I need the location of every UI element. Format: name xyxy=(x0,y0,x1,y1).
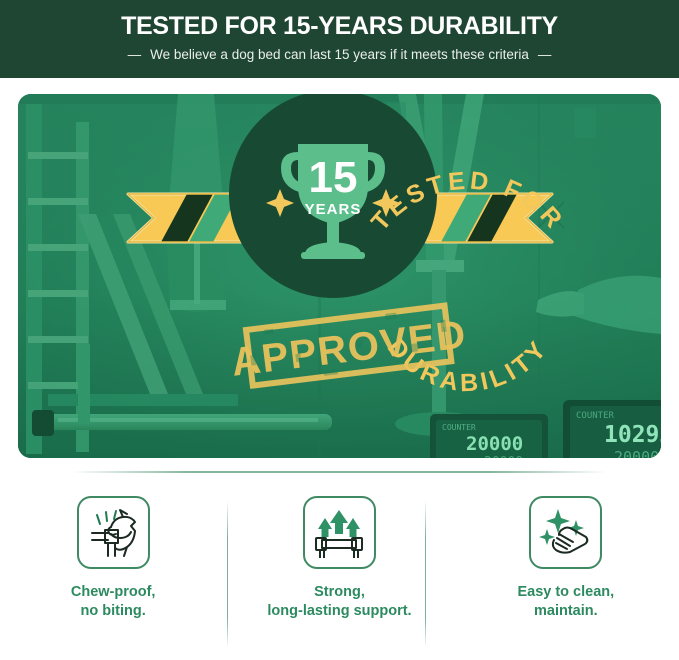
header-subtitle: We believe a dog bed can last 15 years i… xyxy=(150,46,529,64)
feature-item-easy-clean: Easy to clean, maintain. xyxy=(453,496,679,656)
dash-right-icon: — xyxy=(538,46,552,64)
feature-caption: Easy to clean, maintain. xyxy=(517,583,614,621)
hand-wiping-sparkle-icon xyxy=(529,496,602,569)
hero-photo: COUNTER 20000 20000 COUNTER 10292 20000 xyxy=(18,94,661,458)
feature-item-chew-proof: Chew-proof, no biting. xyxy=(0,496,226,656)
header-subtitle-row: — We believe a dog bed can last 15 years… xyxy=(0,46,679,64)
badge-years-number: 15 xyxy=(309,153,358,202)
page-title: TESTED FOR 15-YEARS DURABILITY xyxy=(0,11,679,41)
header-banner: TESTED FOR 15-YEARS DURABILITY — We beli… xyxy=(0,0,679,78)
durability-badge-overlay: TESTED FOR DURABILITY 15 YEA xyxy=(18,94,661,458)
badge-years-unit: YEARS xyxy=(305,201,362,218)
feature-caption: Strong, long-lasting support. xyxy=(267,583,411,621)
dog-chewing-frame-icon xyxy=(77,496,150,569)
feature-item-strong-support: Strong, long-lasting support. xyxy=(226,496,452,656)
dash-left-icon: — xyxy=(128,46,142,64)
feature-list: Chew-proof, no biting. xyxy=(0,496,679,656)
section-divider xyxy=(72,471,607,473)
arrows-up-support-bar-icon xyxy=(303,496,376,569)
feature-caption: Chew-proof, no biting. xyxy=(71,583,156,621)
